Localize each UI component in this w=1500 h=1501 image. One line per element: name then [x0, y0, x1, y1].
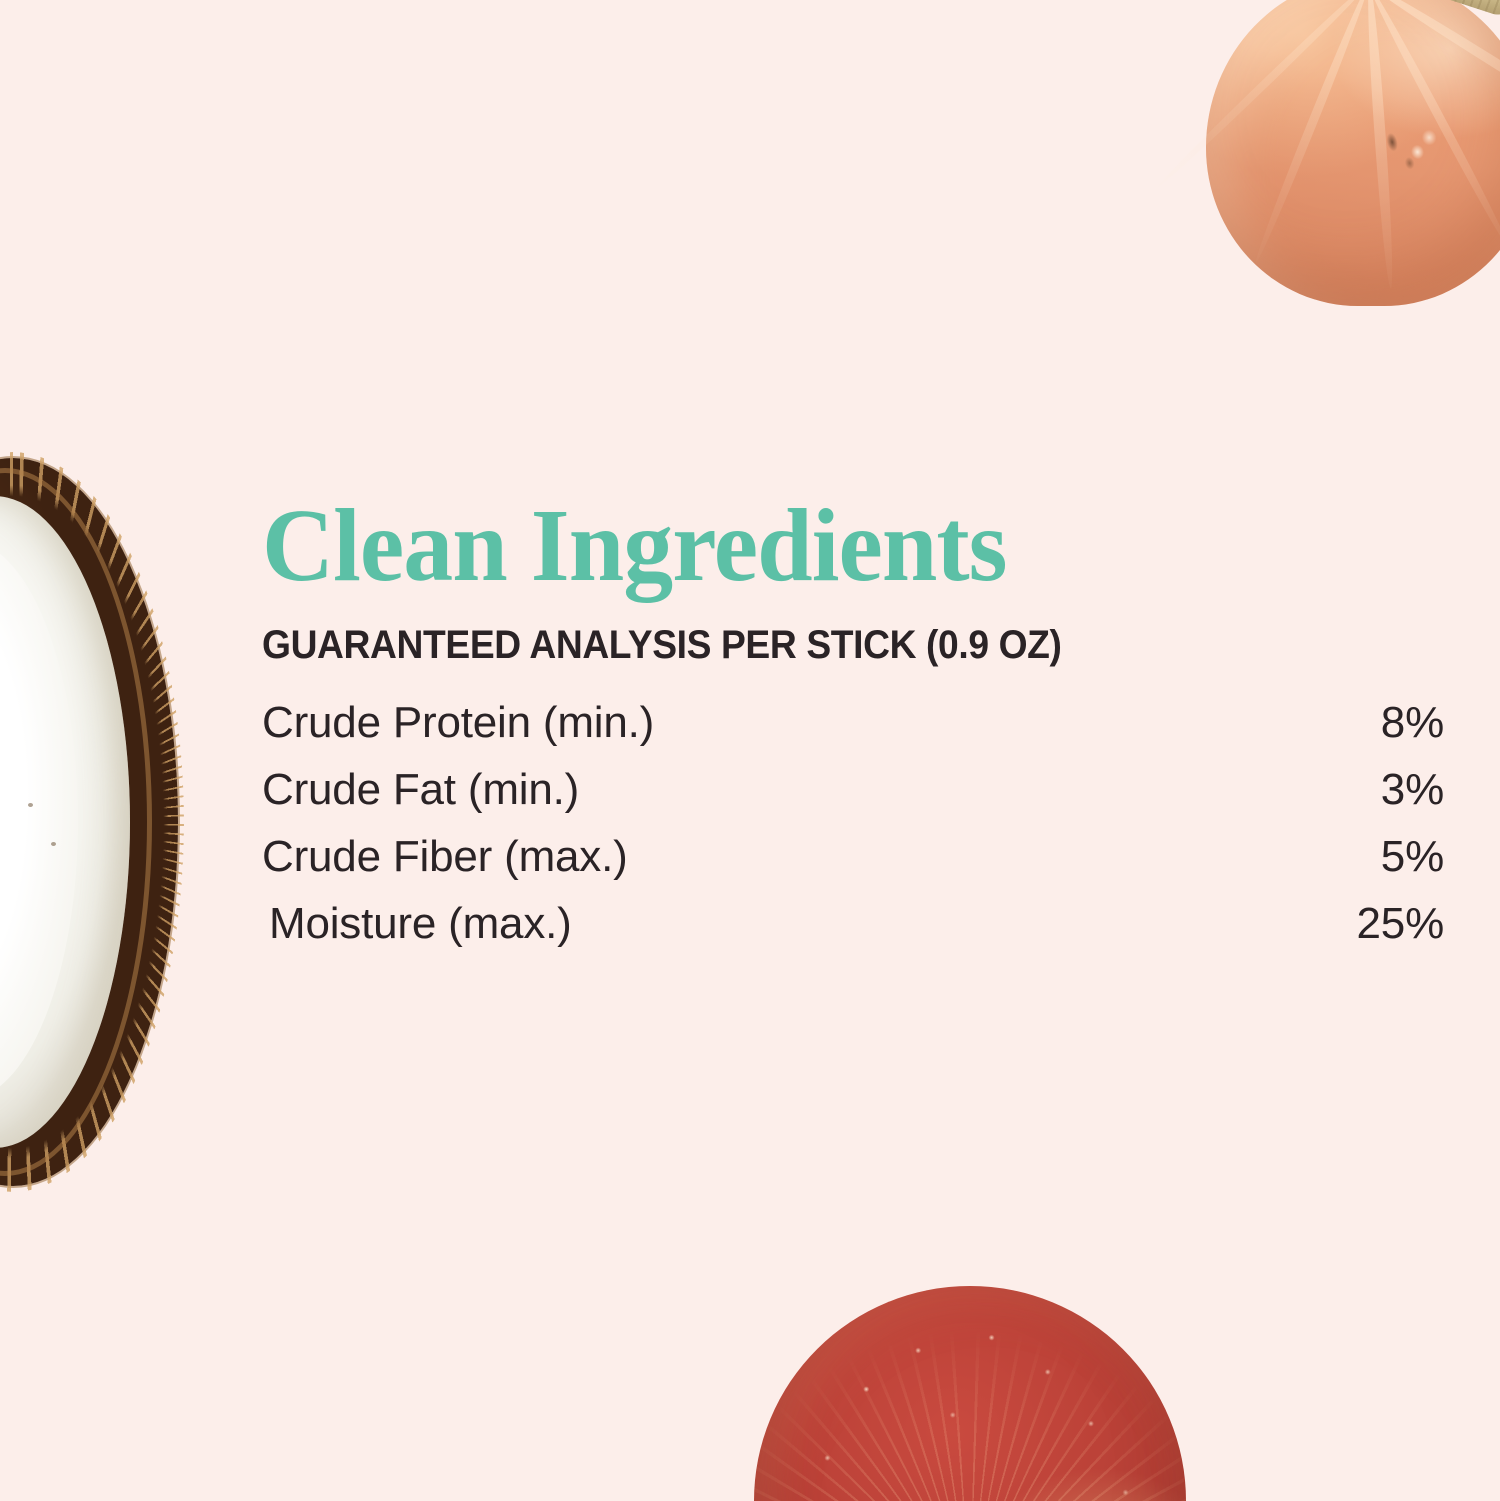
page-title: Clean Ingredients	[262, 494, 1397, 598]
pumpkin-rib	[1365, 0, 1500, 251]
table-row: Crude Fiber (max.) 5%	[262, 823, 1444, 890]
coconut-husk	[0, 458, 178, 1186]
guaranteed-analysis-subheading: GUARANTEED ANALYSIS PER STICK (0.9 OZ)	[262, 624, 1361, 667]
analysis-value: 3%	[1228, 756, 1444, 823]
apple-image	[754, 1286, 1186, 1501]
coconut-shell-line	[0, 468, 152, 1176]
coconut-fiber	[0, 452, 184, 1192]
product-info-card: Clean Ingredients GUARANTEED ANALYSIS PE…	[0, 0, 1500, 1501]
apple-body	[754, 1286, 1186, 1501]
pumpkin-rib	[1156, 0, 1372, 190]
pumpkin-image	[1206, 0, 1500, 320]
coconut-image	[0, 458, 178, 1186]
pumpkin-stem	[1395, 0, 1500, 19]
pumpkin-rib	[1252, 0, 1373, 264]
analysis-value: 8%	[1228, 689, 1444, 756]
analysis-label: Crude Fiber (max.)	[262, 823, 1228, 890]
pumpkin-blemish	[1372, 112, 1457, 184]
table-row: Moisture (max.) 25%	[262, 890, 1444, 957]
pumpkin-shading	[1206, 0, 1500, 306]
coconut-flesh-highlight	[0, 540, 78, 1100]
pumpkin-rib	[1367, 0, 1500, 147]
analysis-label: Crude Fat (min.)	[262, 756, 1228, 823]
apple-streaks	[754, 1286, 1186, 1501]
pumpkin-body	[1206, 0, 1500, 306]
pumpkin-rib	[1364, 0, 1396, 289]
analysis-value: 25%	[1228, 890, 1444, 957]
coconut-flesh	[0, 496, 130, 1148]
guaranteed-analysis-table: Crude Protein (min.) 8% Crude Fat (min.)…	[262, 689, 1444, 957]
table-row: Crude Fat (min.) 3%	[262, 756, 1444, 823]
analysis-label: Crude Protein (min.)	[262, 689, 1228, 756]
coconut-speck	[28, 803, 33, 807]
text-content: Clean Ingredients GUARANTEED ANALYSIS PE…	[262, 494, 1444, 957]
analysis-label: Moisture (max.)	[262, 890, 1228, 957]
table-row: Crude Protein (min.) 8%	[262, 689, 1444, 756]
apple-lenticels	[754, 1286, 1186, 1501]
analysis-table-body: Crude Protein (min.) 8% Crude Fat (min.)…	[262, 689, 1444, 957]
coconut-speck	[51, 842, 56, 846]
analysis-value: 5%	[1228, 823, 1444, 890]
